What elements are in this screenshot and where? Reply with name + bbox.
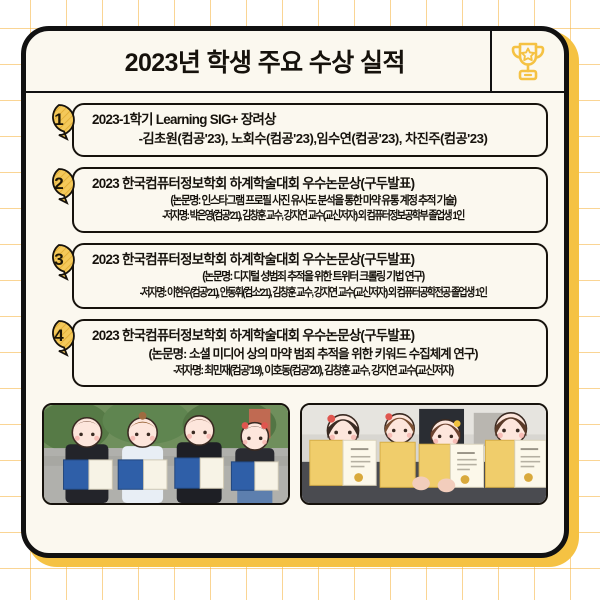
badge-number: 1 — [42, 103, 76, 137]
award-authors: -저자명: 박은영(컴공'21), 김창훈 교수, 강지연 교수(교신저자) 외… — [119, 209, 508, 225]
award-entry: 2 2023 한국컴퓨터정보학회 하계학술대회 우수논문상(구두발표) (논문명… — [42, 167, 548, 233]
number-badge-icon: 4 — [42, 319, 80, 357]
award-list: 1 2023-1학기 Learning SIG+ 장려상 -김초원(컴공'23)… — [26, 93, 564, 387]
photo-gallery — [26, 397, 564, 505]
award-photo-indoor — [300, 403, 548, 505]
award-card: 2023년 학생 주요 수상 실적 — [21, 26, 569, 558]
award-paper: (논문명: 소셜 미디어 상의 마약 범죄 추적을 위한 키워드 수집체계 연구… — [92, 346, 534, 363]
award-photo-outdoor — [42, 403, 290, 505]
award-entry-box: 2023-1학기 Learning SIG+ 장려상 -김초원(컴공'23), … — [72, 103, 548, 157]
award-title: 2023 한국컴퓨터정보학회 하계학술대회 우수논문상(구두발표) — [92, 250, 534, 269]
number-badge-icon: 2 — [42, 167, 80, 205]
award-paper: (논문명: 디지털 성범죄 추적을 위한 트위터 크롤링 기법 연구) — [110, 269, 517, 285]
award-title: 2023-1학기 Learning SIG+ 장려상 — [92, 110, 534, 129]
award-entry: 1 2023-1학기 Learning SIG+ 장려상 -김초원(컴공'23)… — [42, 103, 548, 157]
award-entry-box: 2023 한국컴퓨터정보학회 하계학술대회 우수논문상(구두발표) (논문명: … — [72, 243, 548, 309]
badge-number: 4 — [42, 319, 76, 353]
number-badge-icon: 1 — [42, 103, 80, 141]
page-title: 2023년 학생 주요 수상 실적 — [26, 43, 490, 79]
award-authors: -김초원(컴공'23), 노회수(컴공'23),임수연(컴공'23), 차진주(… — [92, 129, 534, 148]
award-entry: 4 2023 한국컴퓨터정보학회 하계학술대회 우수논문상(구두발표) (논문명… — [42, 319, 548, 387]
number-badge-icon: 3 — [42, 243, 80, 281]
award-entry-box: 2023 한국컴퓨터정보학회 하계학술대회 우수논문상(구두발표) (논문명: … — [72, 319, 548, 387]
card-header: 2023년 학생 주요 수상 실적 — [26, 31, 564, 93]
trophy-icon — [492, 40, 564, 82]
award-entry-box: 2023 한국컴퓨터정보학회 하계학술대회 우수논문상(구두발표) (논문명: … — [72, 167, 548, 233]
award-authors: -저자명: 최민재(컴공'19), 이호동(컴공'20), 김창훈 교수, 강지… — [110, 363, 517, 379]
award-entry: 3 2023 한국컴퓨터정보학회 하계학술대회 우수논문상(구두발표) (논문명… — [42, 243, 548, 309]
award-authors: -저자명: 이현우(컴공'21), 안동휘(컴소'21), 김창훈 교수, 강지… — [119, 286, 508, 302]
badge-number: 3 — [42, 243, 76, 277]
award-title: 2023 한국컴퓨터정보학회 하계학술대회 우수논문상(구두발표) — [92, 326, 534, 345]
award-title: 2023 한국컴퓨터정보학회 하계학술대회 우수논문상(구두발표) — [92, 174, 534, 193]
award-paper: (논문명: 인스타그램 프로필 사진 유사도 분석을 통한 마약 유통 계정 추… — [110, 193, 517, 209]
badge-number: 2 — [42, 167, 76, 201]
